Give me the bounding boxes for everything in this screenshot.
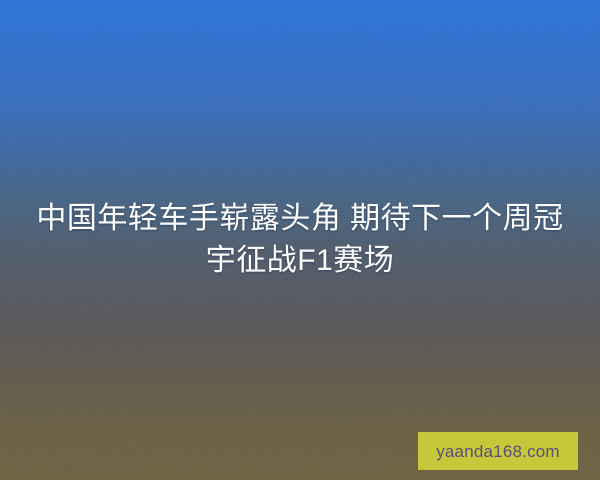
thumbnail-canvas: 中国年轻车手崭露头角 期待下一个周冠 宇征战F1赛场 yaanda168.com [0,0,600,480]
headline-title: 中国年轻车手崭露头角 期待下一个周冠 宇征战F1赛场 [0,198,600,282]
watermark-url-label: yaanda168.com [436,443,560,460]
watermark-badge: yaanda168.com [418,432,578,470]
headline-line-1: 中国年轻车手崭露头角 期待下一个周冠 [0,198,600,240]
headline-line-2: 宇征战F1赛场 [0,240,600,282]
